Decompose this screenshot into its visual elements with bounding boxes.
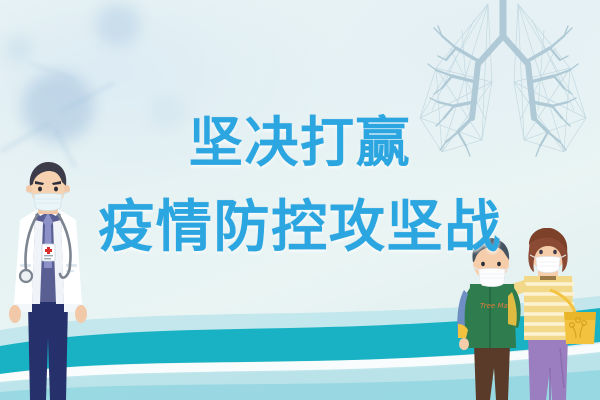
- doctor-figure: [2, 152, 94, 400]
- woman-mask: [536, 257, 560, 273]
- virus-blob-small: [6, 36, 32, 62]
- lungs-wireframe-icon: [396, 0, 600, 190]
- doctor-id-badge: [42, 244, 55, 261]
- doctor-mask: [28, 192, 68, 211]
- boy-figure: Tree Mark: [457, 238, 520, 400]
- boy-mask: [479, 269, 505, 287]
- covid-prevention-banner: 坚决打赢 疫情防控攻坚战: [0, 0, 600, 400]
- virus-blob-faint: [150, 96, 184, 128]
- doctor-legs: [28, 302, 68, 400]
- family-figures: Tree Mark: [456, 228, 600, 400]
- virus-blob-medium: [96, 4, 140, 46]
- stethoscope-chestpiece: [20, 270, 32, 282]
